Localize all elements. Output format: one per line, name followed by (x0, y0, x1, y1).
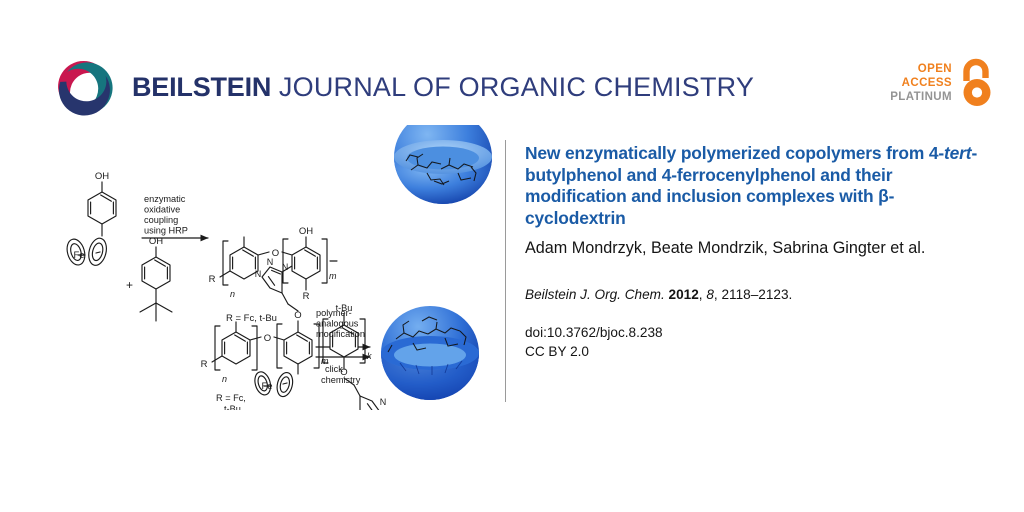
label-product-subscript-n: n (222, 374, 227, 384)
label-product-fe: Fe (261, 381, 272, 392)
article-title[interactable]: New enzymatically polymerized copolymers… (525, 143, 987, 229)
label-product-tbu: t-Bu (336, 303, 353, 313)
label-intermediate-subscript-m: m (329, 271, 337, 281)
label-arrow2-above-line3: modification (316, 329, 365, 339)
label-arrow1-line4: using HRP (144, 226, 188, 236)
label-intermediate-r-right: R (303, 291, 310, 302)
open-lock-icon (958, 58, 996, 108)
open-access-line-access: ACCESS (890, 76, 952, 90)
label-product-subscript-m: m (321, 356, 329, 366)
label-arrow1-line3: coupling (144, 215, 178, 225)
graphical-abstract: OH Fe + OH enzymatic oxidative coupling … (30, 125, 500, 410)
label-reagent1-fe: Fe (73, 250, 84, 261)
label-reagent2-oh: OH (149, 236, 163, 247)
article-title-italic-tert: tert (944, 143, 971, 163)
masthead: BEILSTEIN JOURNAL OF ORGANIC CHEMISTRY O… (0, 0, 1024, 130)
article-metadata: New enzymatically polymerized copolymers… (525, 143, 987, 361)
label-product-ether-o-left: O (264, 333, 271, 344)
citation-volume: 8 (706, 287, 714, 302)
label-intermediate-subscript-n: n (230, 289, 235, 299)
citation-journal: Beilstein J. Org. Chem. (525, 287, 665, 302)
article-license[interactable]: CC BY 2.0 (525, 343, 987, 362)
wordmark-beilstein: BEILSTEIN (132, 72, 271, 102)
label-product-r-def-line2: t-Bu (224, 404, 241, 410)
label-triazole-n1: N (267, 257, 274, 267)
label-product-ether-o-bottom: O (340, 367, 347, 378)
open-access-label: OPEN ACCESS PLATINUM (890, 62, 952, 104)
label-plus-sign: + (126, 278, 133, 292)
label-triazole-n4: N (380, 397, 387, 407)
wordmark-subtitle: JOURNAL OF ORGANIC CHEMISTRY (271, 72, 754, 102)
article-authors: Adam Mondrzyk, Beate Mondrzik, Sabrina G… (525, 238, 987, 259)
article-title-part-1: New enzymatically polymerized copolymers… (525, 143, 944, 163)
label-arrow1-line1: enzymatic (144, 194, 186, 204)
cyclodextrin-cup-lower (381, 306, 479, 400)
open-access-line-open: OPEN (890, 62, 952, 76)
article-citation: Beilstein J. Org. Chem. 2012, 8, 2118–21… (525, 286, 987, 304)
label-product-ether-o-top: O (294, 310, 301, 321)
citation-pages: 2118–2123. (721, 287, 792, 302)
citation-year: 2012 (669, 287, 699, 302)
label-arrow1-line2: oxidative (144, 205, 180, 215)
open-access-badge[interactable]: OPEN ACCESS PLATINUM (890, 58, 996, 108)
label-reagent1-oh: OH (95, 171, 109, 182)
open-access-line-platinum: PLATINUM (890, 90, 952, 104)
journal-logo[interactable]: BEILSTEIN JOURNAL OF ORGANIC CHEMISTRY (52, 55, 754, 121)
label-r-definition-intermediate: R = Fc, t-Bu (226, 313, 277, 324)
label-intermediate-oh: OH (299, 226, 313, 237)
cyclodextrin-cup-upper (394, 125, 492, 208)
journal-wordmark: BEILSTEIN JOURNAL OF ORGANIC CHEMISTRY (132, 74, 754, 103)
label-arrow2-above-line2: analogous (316, 319, 359, 329)
label-intermediate-r-left: R (209, 274, 216, 285)
label-triazole-n3: N (255, 269, 262, 279)
label-product-r-left: R (201, 359, 208, 370)
label-product-subscript-k: k (367, 351, 372, 361)
article-doi[interactable]: doi:10.3762/bjoc.8.238 (525, 324, 987, 343)
column-divider (505, 140, 506, 402)
beilstein-ring-logo-icon (52, 55, 118, 121)
label-product-r-def-line1: R = Fc, (216, 393, 246, 403)
label-triazole-n2: N (282, 262, 289, 272)
